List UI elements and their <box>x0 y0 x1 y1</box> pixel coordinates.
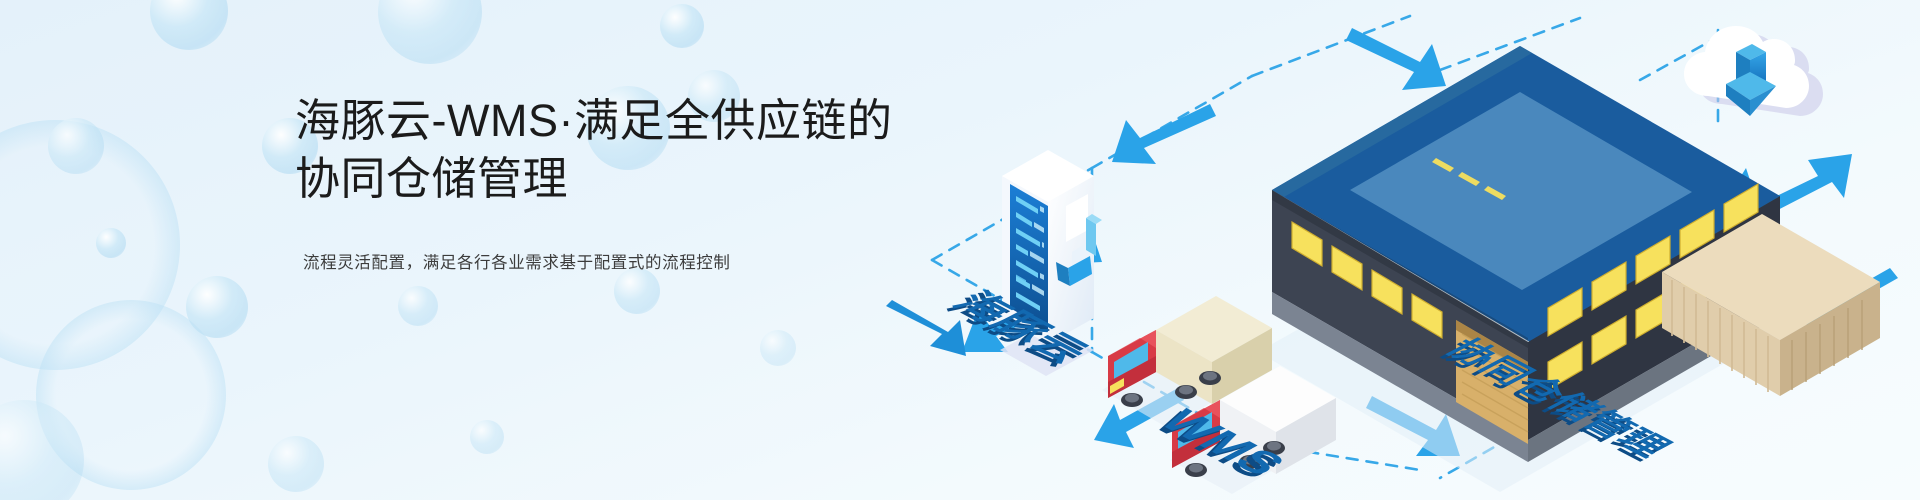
bubble <box>186 276 248 338</box>
bubble <box>268 436 324 492</box>
bubble <box>150 0 228 50</box>
bubble <box>96 228 126 258</box>
page-title: 海豚云-WMS·满足全供应链的 协同仓储管理 <box>295 92 935 208</box>
bubble <box>48 118 104 174</box>
bubble <box>760 330 796 366</box>
bubble <box>0 400 84 500</box>
hero-banner: 海豚云-WMS·满足全供应链的 协同仓储管理 流程灵活配置，满足各行各业需求基于… <box>0 0 1920 500</box>
arrow-icon <box>1346 28 1446 90</box>
cloud-download <box>1684 26 1823 116</box>
bubble <box>660 4 704 48</box>
warehouse-illustration: 海豚云 海豚云 WMS WMS 协同仓储管理 协同仓储管理 <box>880 0 1920 500</box>
headline-line-1: 海豚云-WMS·满足全供应链的 <box>295 95 892 146</box>
bubble <box>398 286 438 326</box>
headline-line-2: 协同仓储管理 <box>295 150 935 208</box>
arrow-icon <box>1112 104 1216 164</box>
bubble <box>470 420 504 454</box>
bubble-ring <box>0 120 180 370</box>
hero-copy: 海豚云-WMS·满足全供应链的 协同仓储管理 流程灵活配置，满足各行各业需求基于… <box>295 92 935 276</box>
bubble-ring <box>36 300 226 490</box>
bubble <box>378 0 482 64</box>
hero-subtitle: 流程灵活配置，满足各行各业需求基于配置式的流程控制 <box>303 250 935 276</box>
